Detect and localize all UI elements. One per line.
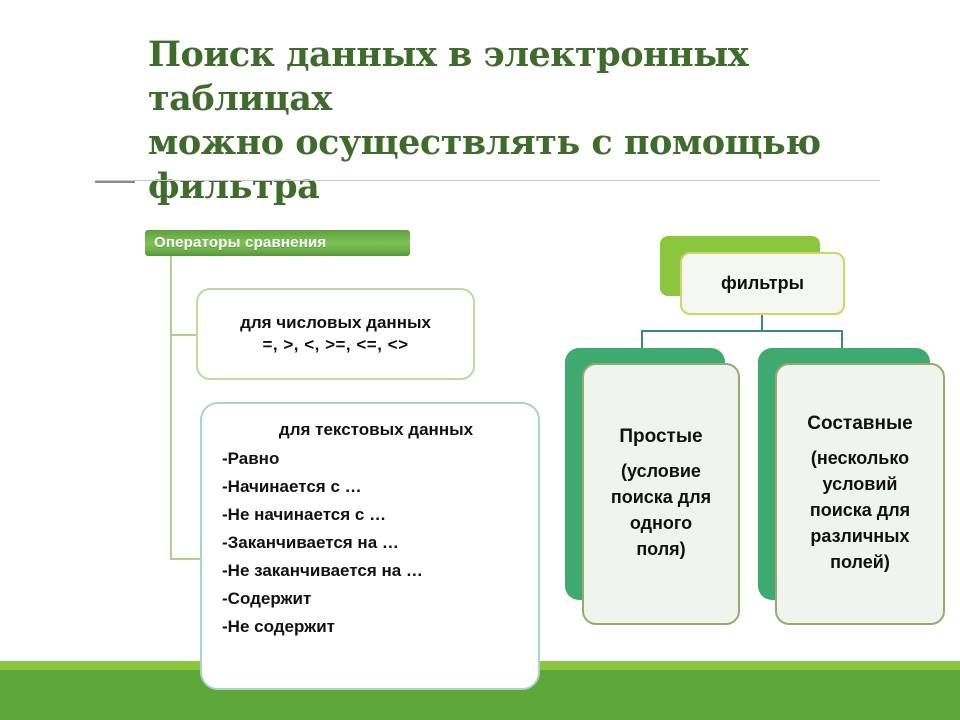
simple-card-body: (условие поиска для одного поля) bbox=[611, 458, 711, 562]
compound-card-body: (несколько условий поиска для различных … bbox=[810, 445, 910, 575]
list-item: -Заканчивается на … bbox=[214, 529, 520, 557]
filters-root-box: фильтры bbox=[680, 252, 845, 315]
list-item: -Равно bbox=[214, 445, 520, 473]
title-divider bbox=[95, 180, 880, 181]
slide-canvas: Поиск данных в электронных таблицах можн… bbox=[0, 0, 960, 720]
textual-operators-box-overlay: для текстовых данных -Равно -Начинается … bbox=[200, 402, 540, 690]
connector-stub-textual bbox=[170, 558, 203, 560]
textual-box-heading: для текстовых данных bbox=[232, 420, 520, 440]
compound-card-title: Составные bbox=[807, 413, 912, 435]
list-item: -Не начинается с … bbox=[214, 501, 520, 529]
list-item: -Начинается с … bbox=[214, 473, 520, 501]
simple-card-title: Простые bbox=[619, 426, 702, 448]
compound-filter-card: Составные (несколько условий поиска для … bbox=[775, 363, 945, 625]
connector-branch-right bbox=[841, 330, 843, 350]
numeric-box-heading: для числовых данных bbox=[240, 313, 431, 333]
simple-filter-card: Простые (условие поиска для одного поля) bbox=[582, 363, 740, 625]
list-item: -Не содержит bbox=[214, 613, 520, 641]
connector-spine-left bbox=[170, 256, 172, 560]
list-item: -Не заканчивается на … bbox=[214, 557, 520, 585]
page-title: Поиск данных в электронных таблицах можн… bbox=[148, 33, 888, 209]
list-item: -Содержит bbox=[214, 585, 520, 613]
textual-operators-list: -Равно -Начинается с … -Не начинается с … bbox=[214, 445, 520, 641]
title-divider-accent bbox=[95, 181, 135, 183]
connector-horizontal-bus bbox=[641, 330, 843, 332]
filters-root-label: фильтры bbox=[721, 273, 804, 294]
connector-branch-left bbox=[641, 330, 643, 350]
connector-stub-numeric bbox=[170, 334, 198, 336]
operators-badge: Операторы сравнения bbox=[145, 230, 410, 256]
connector-root-drop bbox=[761, 315, 763, 331]
numeric-box-operators: =, >, <, >=, <=, <> bbox=[262, 335, 408, 355]
numeric-operators-box: для числовых данных =, >, <, >=, <=, <> bbox=[196, 288, 475, 380]
